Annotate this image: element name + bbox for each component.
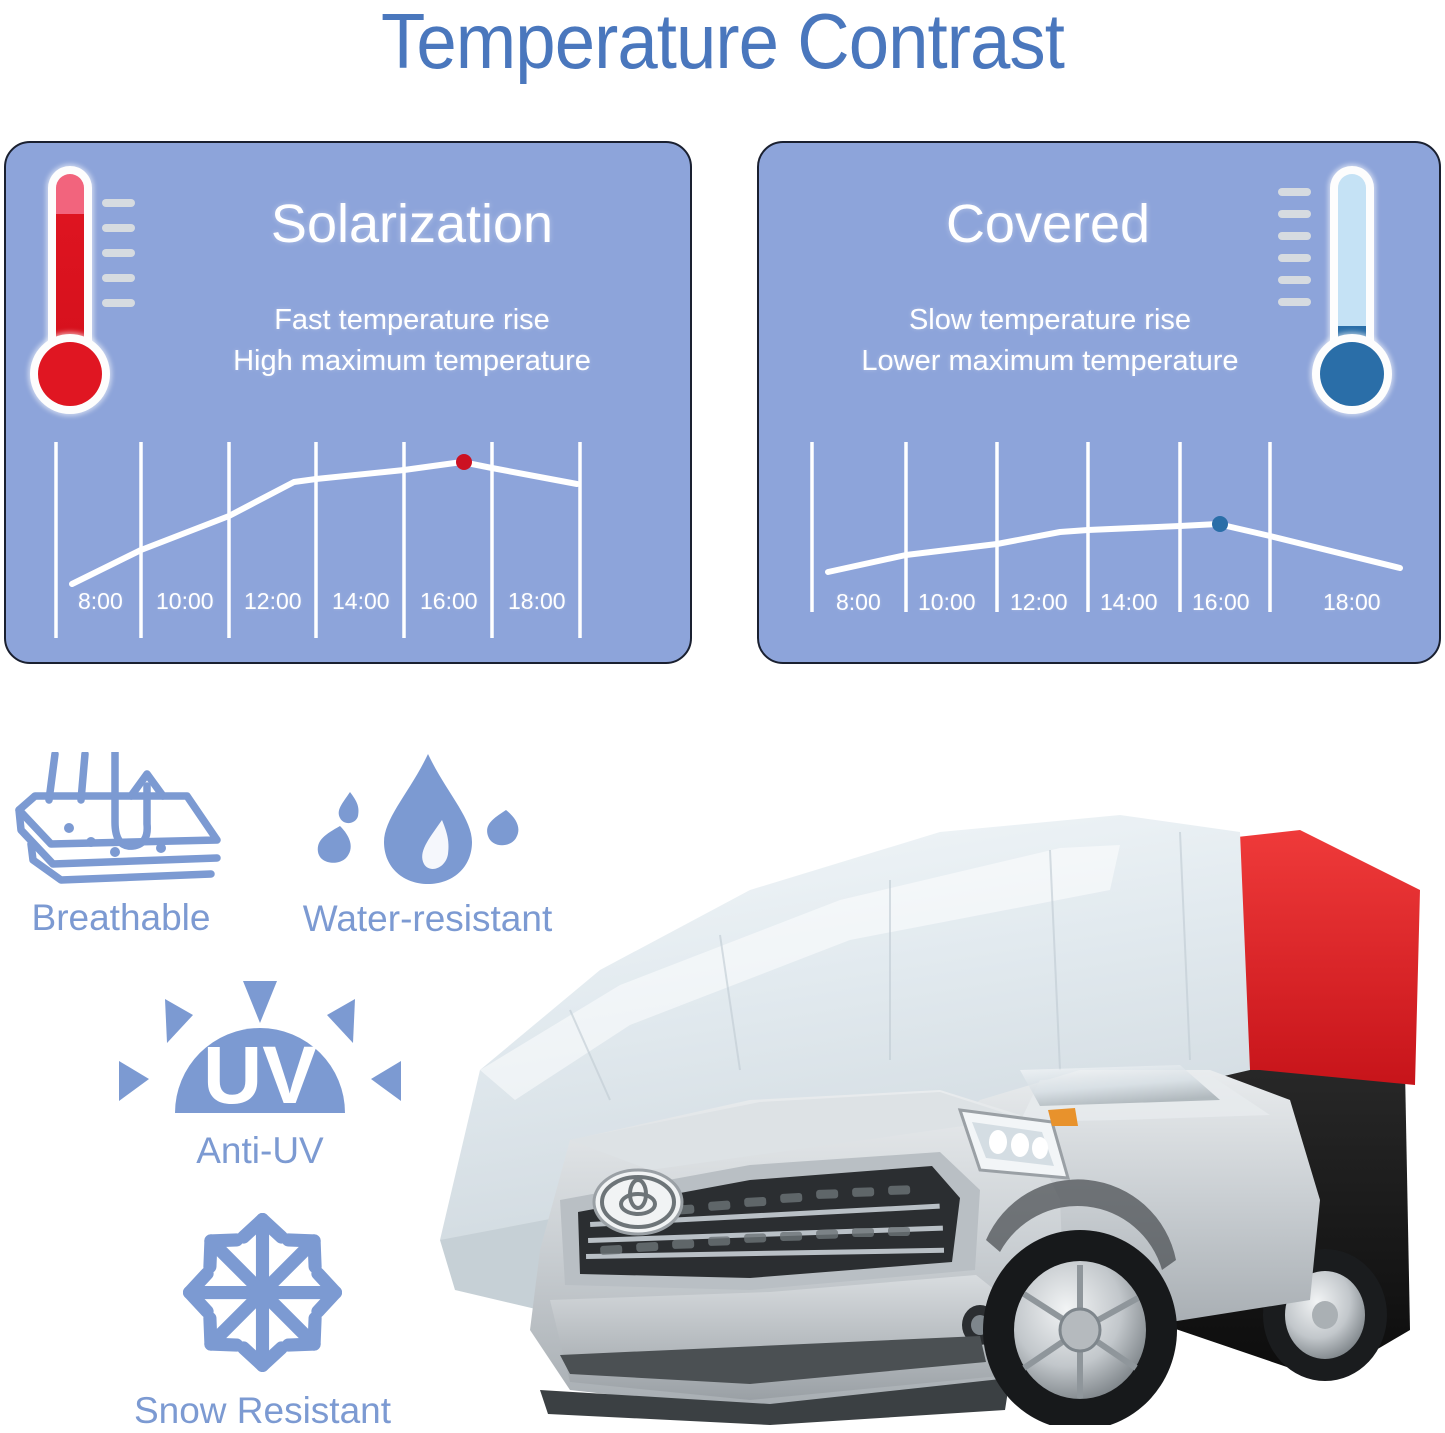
cold-thermometer-icon [1304, 166, 1404, 416]
x-tick-3: 14:00 [332, 588, 390, 614]
x-tick-1: 10:00 [156, 588, 214, 614]
solarization-subtitle: Fast temperature rise High maximum tempe… [152, 300, 672, 382]
x-tick-2: 12:00 [244, 588, 302, 614]
solarization-chart: 8:00 10:00 12:00 14:00 16:00 18:00 [44, 432, 644, 650]
feature-breathable-label: Breathable [0, 896, 246, 940]
solarization-subtitle-line2: High maximum temperature [152, 341, 672, 382]
fabric-layers-airflow-icon [0, 752, 246, 892]
solarization-heading: Solarization [192, 193, 632, 255]
x-tick-2: 12:00 [1010, 589, 1068, 615]
covered-subtitle: Slow temperature rise Lower maximum temp… [790, 300, 1310, 382]
x-tick-1: 10:00 [918, 589, 976, 615]
feature-anti-uv-label: Anti-UV [110, 1129, 410, 1173]
x-tick-3: 14:00 [1100, 589, 1158, 615]
x-tick-5: 18:00 [508, 588, 566, 614]
thermometer-bulb-fill [38, 342, 102, 406]
x-tick-4: 16:00 [420, 588, 478, 614]
uv-icon-text: UV [203, 1030, 317, 1120]
feature-snow-resistant: Snow Resistant [105, 1205, 420, 1433]
feature-anti-uv: UV Anti-UV [110, 975, 410, 1173]
hot-thermometer-icon [22, 166, 122, 416]
toyota-emblem [594, 1170, 682, 1234]
page-title: Temperature Contrast [51, 0, 1395, 88]
covered-subtitle-line1: Slow temperature rise [790, 300, 1310, 341]
covered-subtitle-line2: Lower maximum temperature [790, 341, 1310, 382]
feature-breathable: Breathable [0, 752, 246, 940]
sun-uv-icon: UV [110, 975, 410, 1125]
x-tick-5: 18:00 [1323, 589, 1381, 615]
solarization-subtitle-line1: Fast temperature rise [152, 300, 672, 341]
x-tick-4: 16:00 [1192, 589, 1250, 615]
x-tick-0: 8:00 [836, 589, 881, 615]
feature-snow-resistant-label: Snow Resistant [105, 1389, 420, 1433]
thermometer-ticks [102, 199, 135, 324]
covered-heading: Covered [818, 193, 1278, 255]
suv-with-car-cover-photo [420, 770, 1445, 1425]
x-tick-0: 8:00 [78, 588, 123, 614]
covered-chart: 8:00 10:00 12:00 14:00 16:00 18:00 [800, 432, 1410, 650]
thermometer-bulb-fill [1320, 342, 1384, 406]
snowflake-icon [105, 1205, 420, 1385]
